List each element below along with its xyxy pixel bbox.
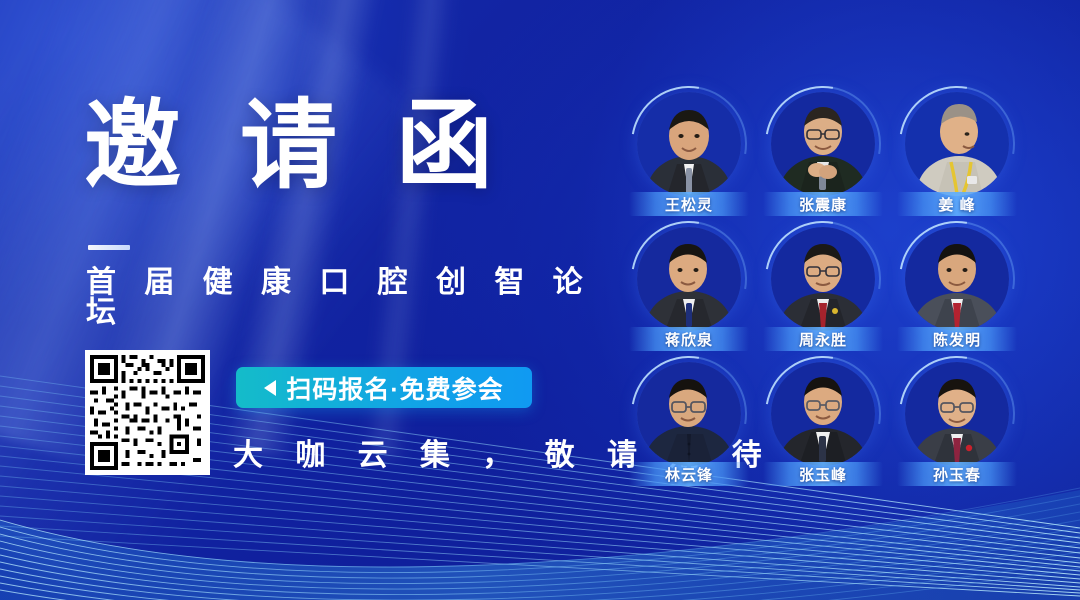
speaker-name-plate: 陈发明 [897, 327, 1017, 351]
speaker-name-plate: 孙玉春 [897, 462, 1017, 486]
speaker-name-plate: 蒋欣泉 [629, 327, 749, 351]
avatar [771, 227, 875, 331]
qr-code-icon[interactable] [85, 350, 210, 475]
speaker-name-plate: 姜 峰 [897, 192, 1017, 216]
speaker-name: 陈发明 [933, 329, 981, 350]
speaker-card[interactable]: 林云锋 [624, 362, 754, 487]
speaker-card[interactable]: 孙玉春 [892, 362, 1022, 487]
invitation-poster: 邀 请 函 首 届 健 康 口 腔 创 智 论 坛 [0, 0, 1080, 600]
avatar [905, 362, 1009, 466]
register-button[interactable]: 扫码报名·免费参会 [236, 367, 532, 408]
speaker-card[interactable]: 陈发明 [892, 227, 1022, 352]
speaker-card[interactable]: 姜 峰 [892, 92, 1022, 217]
avatar [637, 362, 741, 466]
page-title: 邀 请 函 [84, 97, 509, 194]
avatar [905, 227, 1009, 331]
speaker-name-plate: 张玉峰 [763, 462, 883, 486]
speaker-name: 姜 峰 [938, 194, 975, 215]
speaker-card[interactable]: 周永胜 [758, 227, 888, 352]
speaker-grid: 王松灵 [610, 82, 1050, 502]
triangle-left-icon [264, 380, 276, 396]
speaker-name-plate: 张震康 [763, 192, 883, 216]
speaker-name: 孙玉春 [933, 464, 981, 485]
speaker-name: 张震康 [799, 194, 847, 215]
title-divider [88, 245, 130, 250]
poster-left-column: 邀 请 函 首 届 健 康 口 腔 创 智 论 坛 [0, 0, 600, 600]
speaker-name: 张玉峰 [799, 464, 847, 485]
page-subtitle: 首 届 健 康 口 腔 创 智 论 坛 [86, 268, 600, 328]
register-button-label: 扫码报名·免费参会 [286, 370, 503, 406]
speaker-card[interactable]: 王松灵 [624, 92, 754, 217]
speaker-name: 蒋欣泉 [665, 329, 713, 350]
avatar [905, 92, 1009, 196]
avatar [637, 227, 741, 331]
avatar [771, 362, 875, 466]
speaker-name-plate: 周永胜 [763, 327, 883, 351]
speaker-name-plate: 林云锋 [629, 462, 749, 486]
speaker-card[interactable]: 张玉峰 [758, 362, 888, 487]
speaker-name-plate: 王松灵 [629, 192, 749, 216]
avatar [771, 92, 875, 196]
speaker-name: 王松灵 [665, 194, 713, 215]
avatar [637, 92, 741, 196]
speaker-name: 周永胜 [799, 329, 847, 350]
speaker-name: 林云锋 [665, 464, 713, 485]
speaker-card[interactable]: 蒋欣泉 [624, 227, 754, 352]
speaker-card[interactable]: 张震康 [758, 92, 888, 217]
